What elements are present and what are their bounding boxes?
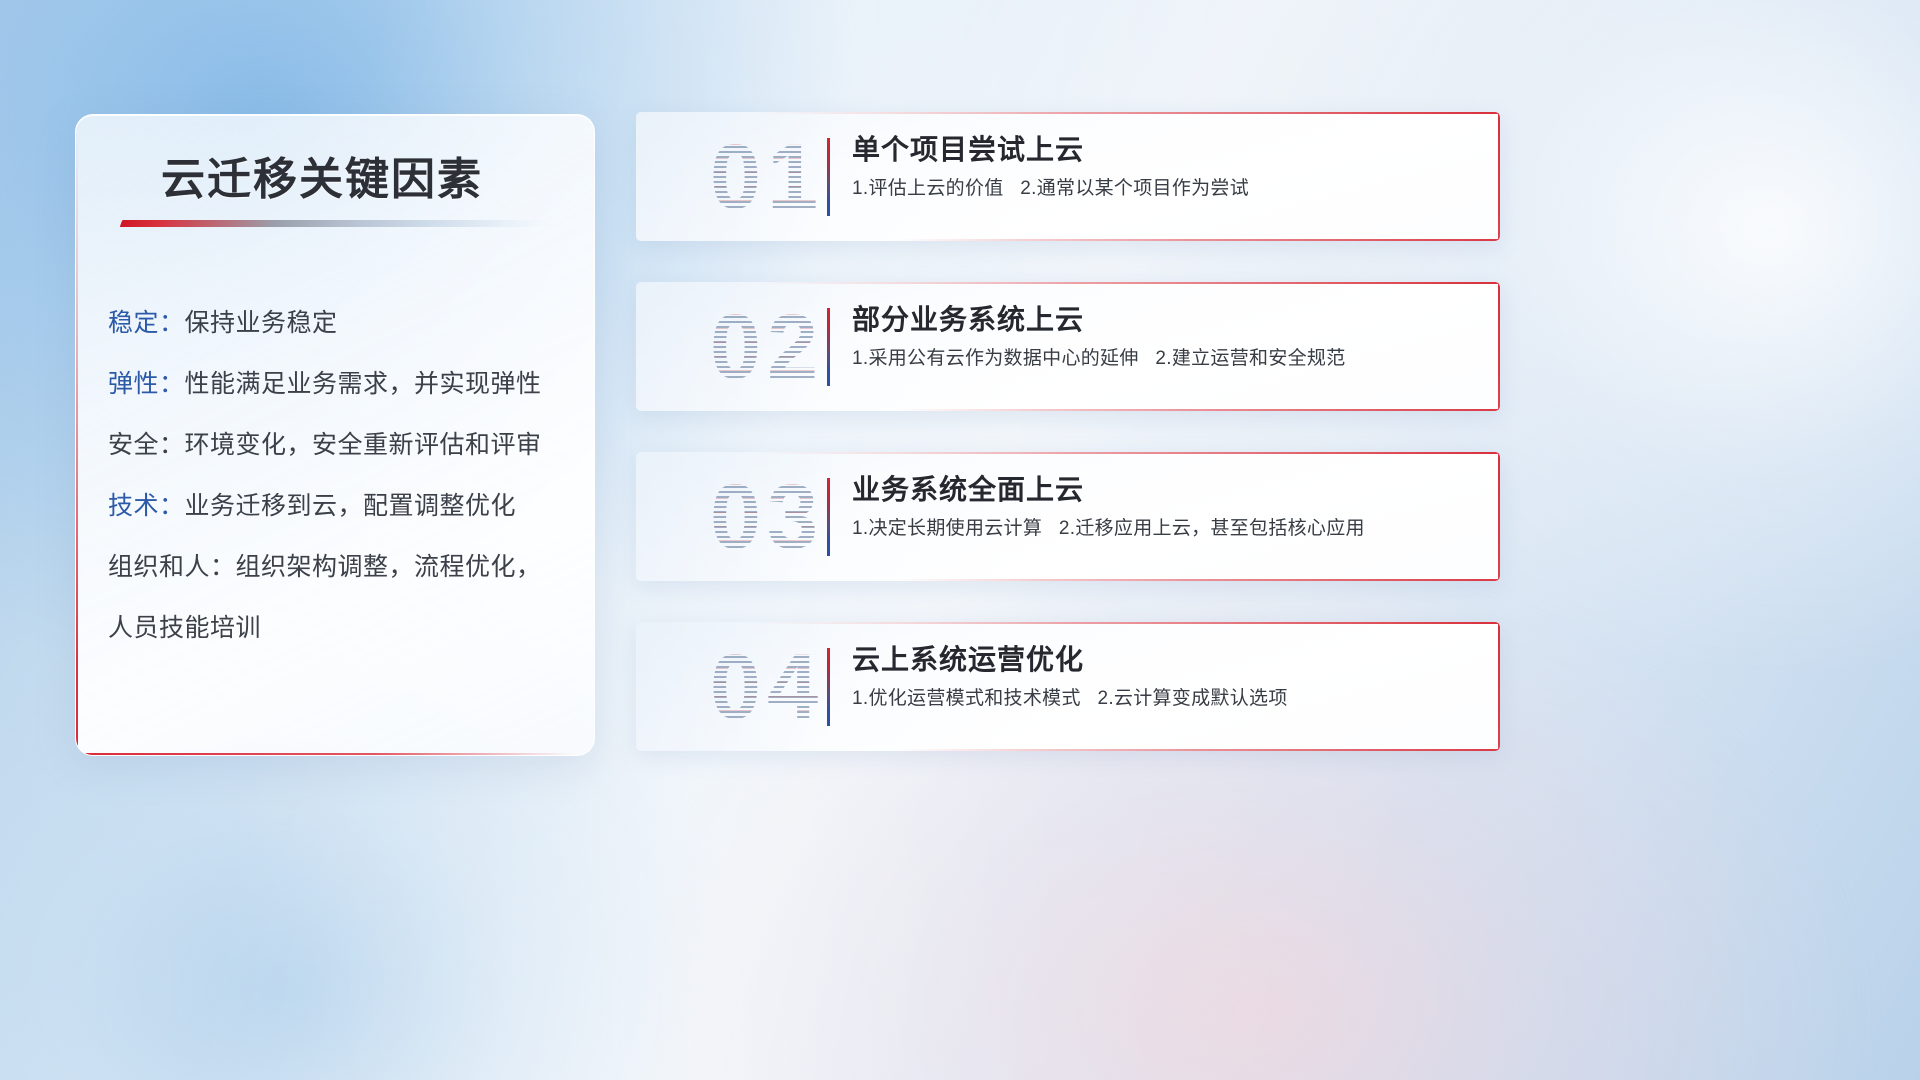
step-body: 业务系统全面上云1.决定长期使用云计算 2.迁移应用上云，甚至包括核心应用 [852, 470, 1480, 548]
factor-text: 业务迁移到云，配置调整优化 [185, 492, 517, 520]
step-divider-bar [827, 478, 830, 556]
panel-left-accent-line [76, 133, 78, 755]
card-right-accent-line [1498, 452, 1500, 581]
step-title: 业务系统全面上云 [852, 470, 1480, 510]
step-divider-bar [827, 308, 830, 386]
factor-row: 弹性：性能满足业务需求，并实现弹性 [108, 354, 576, 415]
factor-row: 稳定：保持业务稳定 [108, 293, 576, 354]
card-top-accent-line [756, 112, 1500, 114]
page-title: 云迁移关键因素 [161, 143, 483, 207]
card-bottom-accent-line [896, 749, 1500, 751]
step-description: 1.评估上云的价值 2.通常以某个项目作为尝试 [852, 170, 1480, 208]
step-number-watermark-tint: 04 [662, 626, 872, 748]
key-factors-list: 稳定：保持业务稳定弹性：性能满足业务需求，并实现弹性安全：环境变化，安全重新评估… [108, 293, 576, 659]
factor-row: 组织和人：组织架构调整，流程优化， [108, 537, 576, 598]
step-number-watermark-tint: 01 [662, 116, 872, 238]
card-top-accent-line [756, 452, 1500, 454]
step-card-02[interactable]: 0202部分业务系统上云1.采用公有云作为数据中心的延伸 2.建立运营和安全规范 [636, 282, 1500, 411]
step-card-04[interactable]: 0404云上系统运营优化1.优化运营模式和技术模式 2.云计算变成默认选项 [636, 622, 1500, 751]
factor-row: 人员技能培训 [108, 598, 576, 659]
step-number-watermark-tint: 02 [662, 286, 872, 408]
card-top-accent-line [756, 622, 1500, 624]
factor-row: 技术：业务迁移到云，配置调整优化 [108, 476, 576, 537]
card-right-accent-line [1498, 622, 1500, 751]
factor-text: 性能满足业务需求，并实现弹性 [185, 370, 542, 398]
step-card-03[interactable]: 0303业务系统全面上云1.决定长期使用云计算 2.迁移应用上云，甚至包括核心应… [636, 452, 1500, 581]
key-factors-panel: 云迁移关键因素 稳定：保持业务稳定弹性：性能满足业务需求，并实现弹性安全：环境变… [75, 114, 595, 756]
step-number-watermark-tint: 03 [662, 456, 872, 578]
step-description: 1.采用公有云作为数据中心的延伸 2.建立运营和安全规范 [852, 340, 1480, 378]
migration-steps-list: 0101单个项目尝试上云1.评估上云的价值 2.通常以某个项目作为尝试0202部… [636, 112, 1500, 792]
step-card-01[interactable]: 0101单个项目尝试上云1.评估上云的价值 2.通常以某个项目作为尝试 [636, 112, 1500, 241]
factor-text: 环境变化，安全重新评估和评审 [185, 431, 542, 459]
step-divider-bar [827, 648, 830, 726]
step-title: 单个项目尝试上云 [852, 130, 1480, 170]
card-bottom-accent-line [896, 239, 1500, 241]
step-title: 部分业务系统上云 [852, 300, 1480, 340]
step-body: 单个项目尝试上云1.评估上云的价值 2.通常以某个项目作为尝试 [852, 130, 1480, 208]
factor-label: 稳定： [108, 309, 185, 337]
factor-text: 保持业务稳定 [185, 309, 338, 337]
card-top-accent-line [756, 282, 1500, 284]
factor-row: 安全：环境变化，安全重新评估和评审 [108, 415, 576, 476]
step-divider-bar [827, 138, 830, 216]
card-right-accent-line [1498, 282, 1500, 411]
card-right-accent-line [1498, 112, 1500, 241]
step-description: 1.优化运营模式和技术模式 2.云计算变成默认选项 [852, 680, 1480, 718]
factor-label: 安全： [108, 431, 185, 459]
title-underline-gradient [120, 220, 553, 227]
factor-text: 人员技能培训 [108, 614, 261, 642]
card-bottom-accent-line [896, 579, 1500, 581]
factor-label: 技术： [108, 492, 185, 520]
step-description: 1.决定长期使用云计算 2.迁移应用上云，甚至包括核心应用 [852, 510, 1480, 548]
panel-bottom-accent-line [76, 753, 572, 755]
factor-label: 弹性： [108, 370, 185, 398]
step-title: 云上系统运营优化 [852, 640, 1480, 680]
factor-text: 组织架构调整，流程优化， [236, 553, 542, 581]
step-body: 部分业务系统上云1.采用公有云作为数据中心的延伸 2.建立运营和安全规范 [852, 300, 1480, 378]
step-body: 云上系统运营优化1.优化运营模式和技术模式 2.云计算变成默认选项 [852, 640, 1480, 718]
card-bottom-accent-line [896, 409, 1500, 411]
factor-label: 组织和人： [108, 553, 236, 581]
